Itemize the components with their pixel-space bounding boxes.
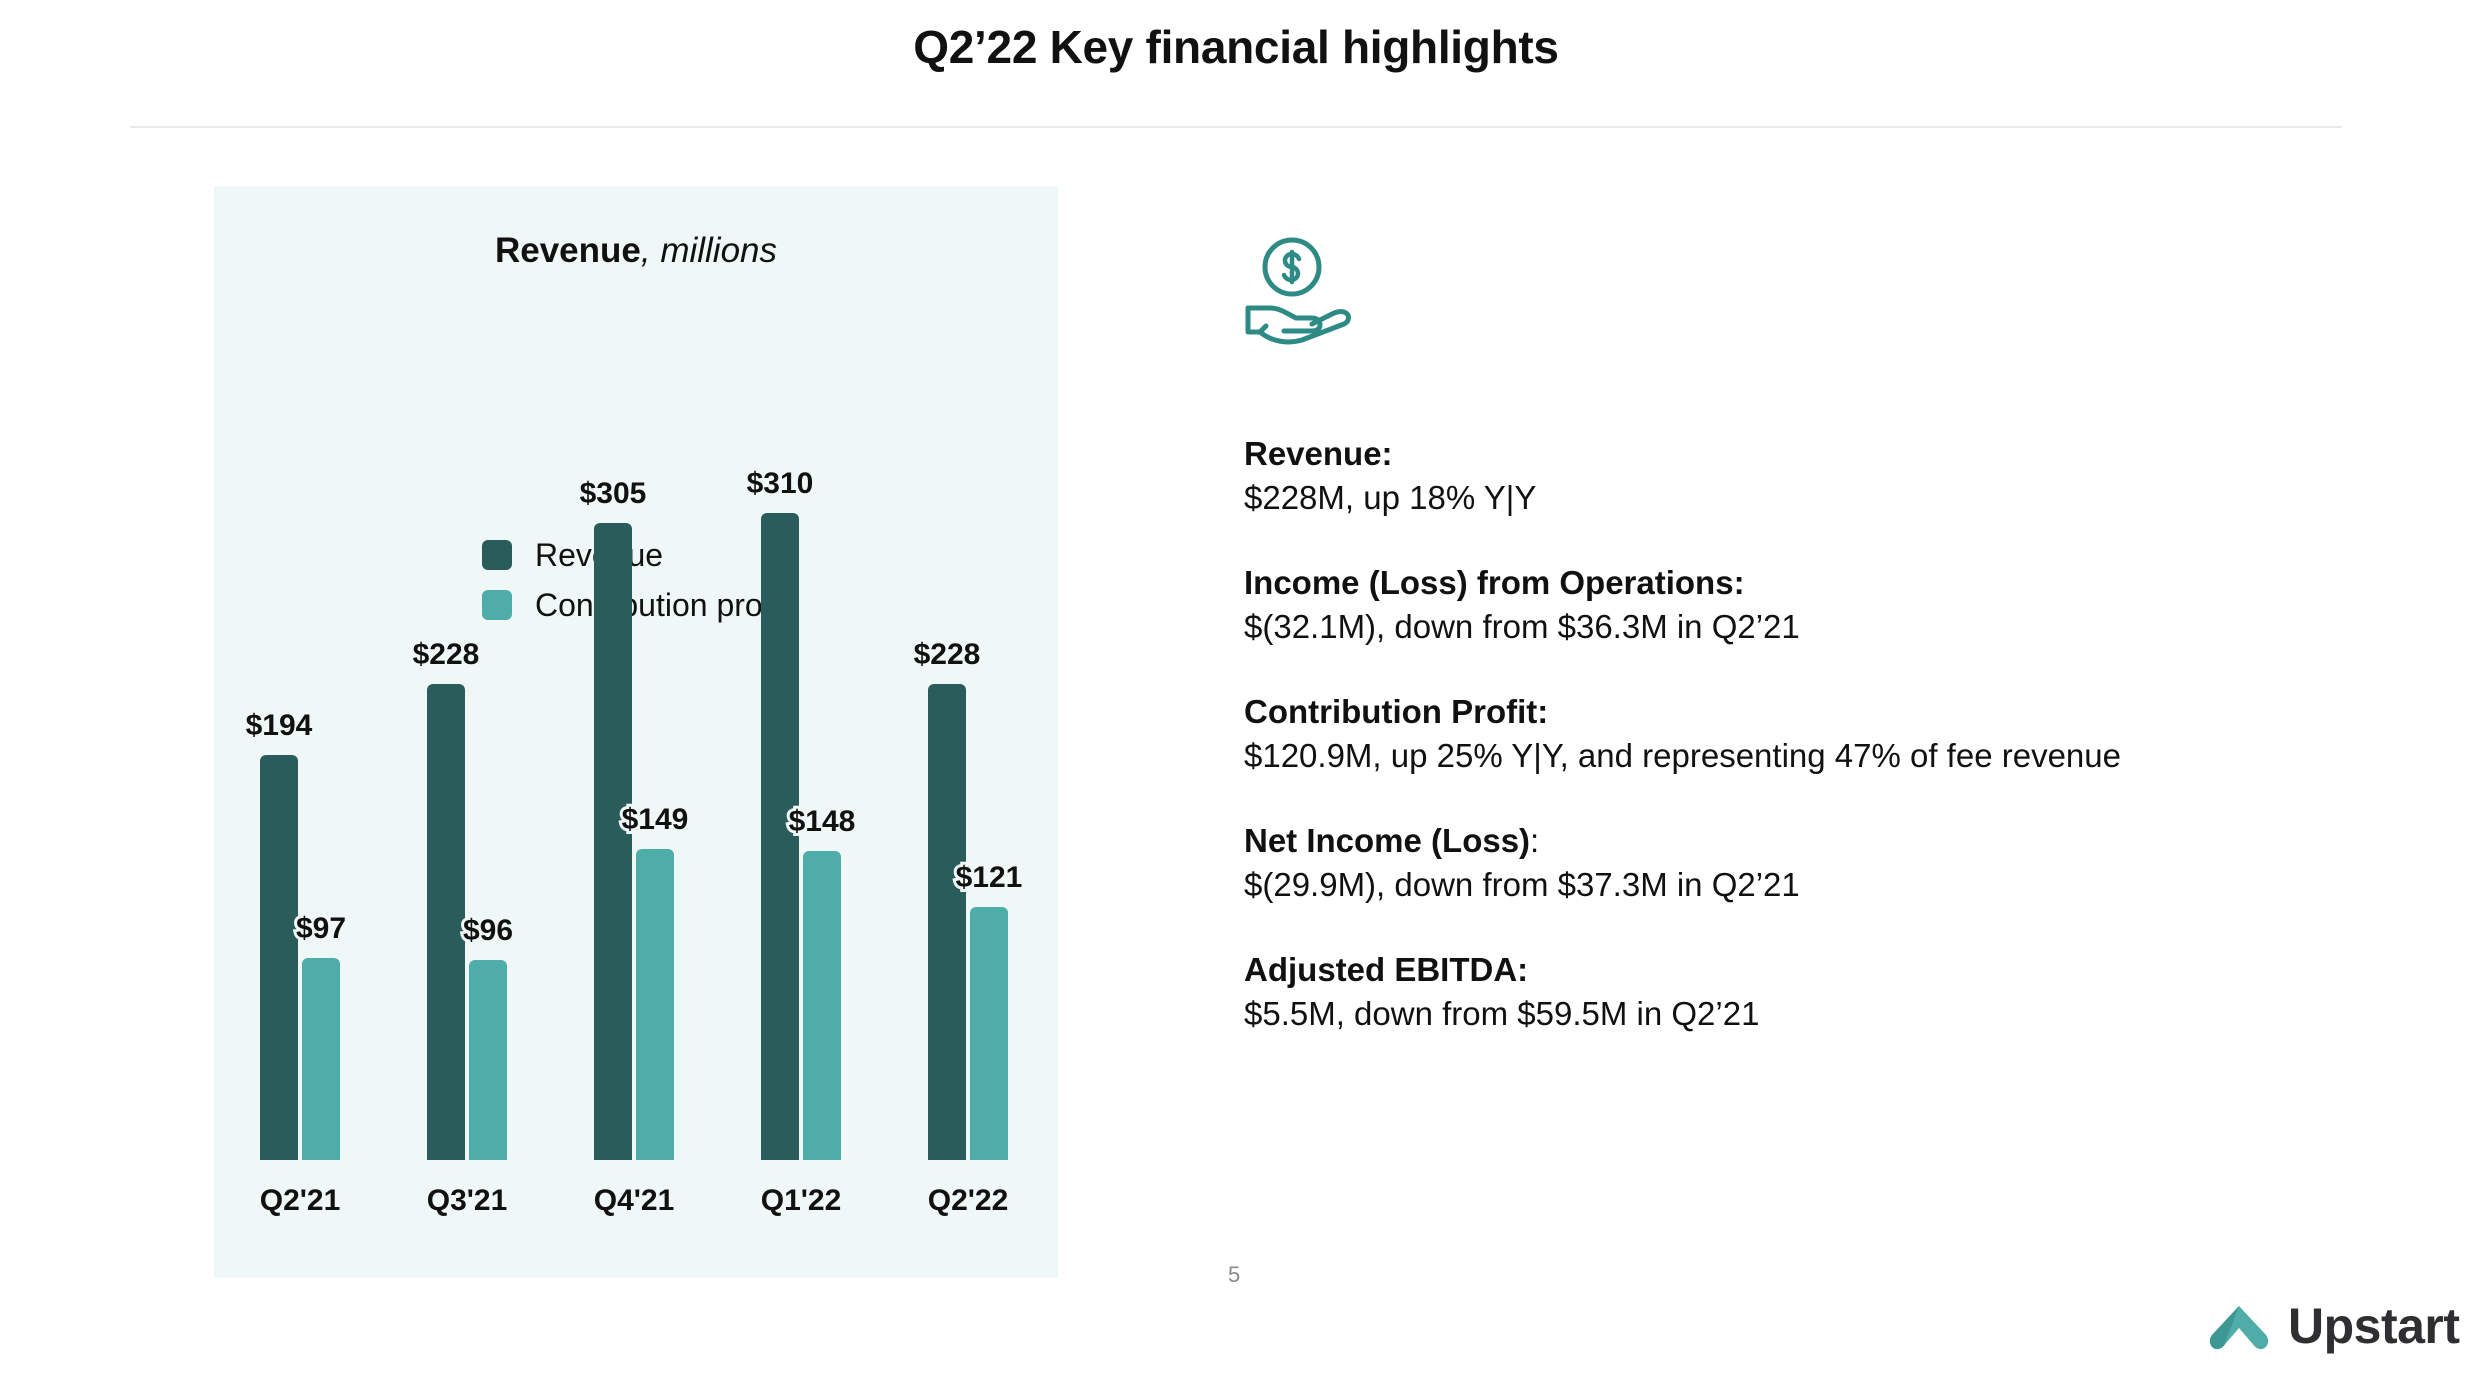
bar-label-contribution-profit-Q2'21: $97 <box>272 912 370 946</box>
upstart-wordmark: Upstart <box>2288 1301 2460 1351</box>
highlight-value: $228M, up 18% Y|Y <box>1244 476 2394 520</box>
bar-contribution-profit-Q1'22 <box>803 851 841 1160</box>
x-axis-label-Q2'21: Q2'21 <box>220 1184 380 1218</box>
bar-label-revenue-Q2'21: $194 <box>230 709 328 743</box>
highlight-label: Net Income (Loss): <box>1244 819 2394 863</box>
x-axis-label-Q4'21: Q4'21 <box>554 1184 714 1218</box>
highlight-value: $120.9M, up 25% Y|Y, and representing 47… <box>1244 734 2394 778</box>
highlight-label-bold: Contribution Profit: <box>1244 693 1548 730</box>
bar-label-contribution-profit-Q4'21: $149 <box>606 803 704 837</box>
highlight-label: Revenue: <box>1244 432 2394 476</box>
highlight-label-bold: Adjusted EBITDA: <box>1244 951 1528 988</box>
bar-label-revenue-Q2'22: $228 <box>898 638 996 672</box>
upstart-chevron-icon <box>2206 1300 2272 1352</box>
hand-holding-dollar-coin-icon <box>1240 232 1360 352</box>
bar-label-revenue-Q1'22: $310 <box>731 467 829 501</box>
bar-label-revenue-Q4'21: $305 <box>564 477 662 511</box>
page-title: Q2’22 Key financial highlights <box>0 20 2472 74</box>
bar-label-contribution-profit-Q1'22: $148 <box>773 805 871 839</box>
highlight-value: $(29.9M), down from $37.3M in Q2’21 <box>1244 863 2394 907</box>
highlight-item: Contribution Profit:$120.9M, up 25% Y|Y,… <box>1244 690 2394 777</box>
x-axis-label-Q1'22: Q1'22 <box>721 1184 881 1218</box>
highlight-item: Adjusted EBITDA:$5.5M, down from $59.5M … <box>1244 948 2394 1035</box>
bar-revenue-Q2'22 <box>928 684 966 1160</box>
highlight-item: Net Income (Loss):$(29.9M), down from $3… <box>1244 819 2394 906</box>
highlight-label-bold: Income (Loss) from Operations: <box>1244 564 1745 601</box>
bar-revenue-Q2'21 <box>260 755 298 1160</box>
bar-chart-plot: $194$97Q2'21$228$96Q3'21$305$149Q4'21$31… <box>214 186 1058 1278</box>
x-axis-label-Q3'21: Q3'21 <box>387 1184 547 1218</box>
highlight-label-suffix: : <box>1530 822 1539 859</box>
highlight-label: Contribution Profit: <box>1244 690 2394 734</box>
highlight-item: Revenue:$228M, up 18% Y|Y <box>1244 432 2394 519</box>
bar-label-revenue-Q3'21: $228 <box>397 638 495 672</box>
upstart-logo: Upstart <box>2206 1300 2460 1352</box>
highlight-value: $(32.1M), down from $36.3M in Q2’21 <box>1244 605 2394 649</box>
highlight-value: $5.5M, down from $59.5M in Q2’21 <box>1244 992 2394 1036</box>
highlight-label-bold: Net Income (Loss) <box>1244 822 1530 859</box>
highlight-item: Income (Loss) from Operations:$(32.1M), … <box>1244 561 2394 648</box>
bar-contribution-profit-Q2'22 <box>970 907 1008 1160</box>
financial-highlights-list: Revenue:$228M, up 18% Y|YIncome (Loss) f… <box>1244 432 2394 1035</box>
bar-contribution-profit-Q4'21 <box>636 849 674 1160</box>
bar-contribution-profit-Q2'21 <box>302 958 340 1160</box>
slide: Q2’22 Key financial highlights Revenue, … <box>0 0 2472 1382</box>
bar-label-contribution-profit-Q3'21: $96 <box>439 914 537 948</box>
bar-revenue-Q4'21 <box>594 523 632 1160</box>
highlight-label-bold: Revenue: <box>1244 435 1393 472</box>
revenue-chart-panel: Revenue, millions Revenue Contribution p… <box>214 186 1058 1278</box>
x-axis-label-Q2'22: Q2'22 <box>888 1184 1048 1218</box>
header-divider <box>130 126 2342 128</box>
highlight-label: Adjusted EBITDA: <box>1244 948 2394 992</box>
bar-label-contribution-profit-Q2'22: $121 <box>940 861 1038 895</box>
bar-contribution-profit-Q3'21 <box>469 960 507 1160</box>
page-number: 5 <box>1228 1262 1240 1288</box>
highlight-label: Income (Loss) from Operations: <box>1244 561 2394 605</box>
